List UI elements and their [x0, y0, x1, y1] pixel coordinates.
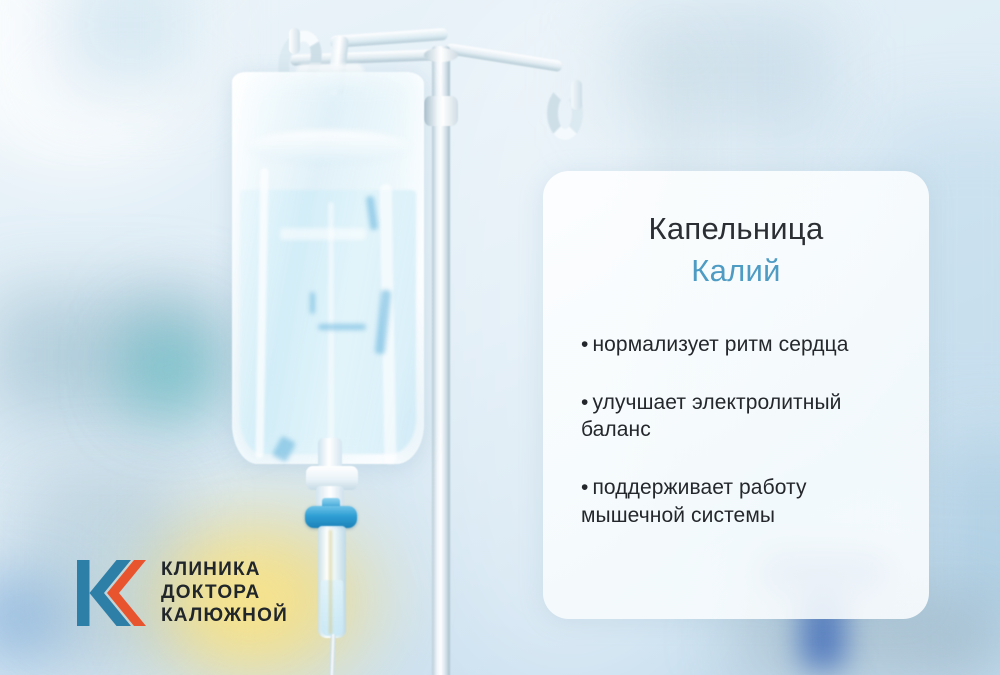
iv-stand-hook-right-stub [571, 80, 582, 110]
poster-canvas: Капельница Калий •нормализует ритм сердц… [0, 0, 1000, 675]
iv-stand-pole-collar [424, 96, 458, 126]
logo-line-1: КЛИНИКА [161, 559, 288, 581]
bullet-icon: • [581, 476, 588, 499]
benefit-text: поддерживает работу мышечной системы [581, 476, 807, 527]
iv-blue-cap [305, 506, 357, 528]
card-title: Капельница [569, 211, 903, 248]
iv-bag-crease [246, 130, 410, 164]
iv-stand-pole [432, 46, 450, 675]
iv-stand-arm-right [445, 43, 563, 72]
clinic-logo[interactable]: КЛИНИКА ДОКТОРА КАЛЮЖНОЙ [76, 556, 288, 630]
iv-stand-pole-cap [424, 48, 458, 62]
iv-bag-blue-marking [310, 292, 315, 314]
info-card: Капельница Калий •нормализует ритм сердц… [543, 171, 929, 619]
benefit-text: улучшает электролитный баланс [581, 391, 842, 442]
bullet-icon: • [581, 333, 588, 356]
benefit-item: •поддерживает работу мышечной системы [581, 474, 903, 529]
iv-stand-hook-left-stub [289, 28, 300, 54]
kk-monogram-icon [76, 556, 148, 630]
iv-bag [232, 72, 424, 464]
bullet-icon: • [581, 391, 588, 414]
benefit-item: •нормализует ритм сердца [581, 331, 903, 359]
iv-bag-emboss [280, 228, 366, 240]
iv-bag-blue-marking [318, 324, 366, 330]
benefit-item: •улучшает электролитный баланс [581, 389, 903, 444]
benefit-text: нормализует ритм сердца [592, 333, 848, 356]
logo-wordmark: КЛИНИКА ДОКТОРА КАЛЮЖНОЙ [161, 559, 288, 627]
iv-drip-chamber-liquid [321, 580, 343, 636]
iv-drip-chamber-stripe [329, 530, 332, 634]
logo-line-2: ДОКТОРА [161, 582, 288, 604]
card-subtitle: Калий [569, 251, 903, 291]
logo-line-3: КАЛЮЖНОЙ [161, 605, 288, 627]
benefits-list: •нормализует ритм сердца •улучшает элект… [569, 331, 903, 530]
